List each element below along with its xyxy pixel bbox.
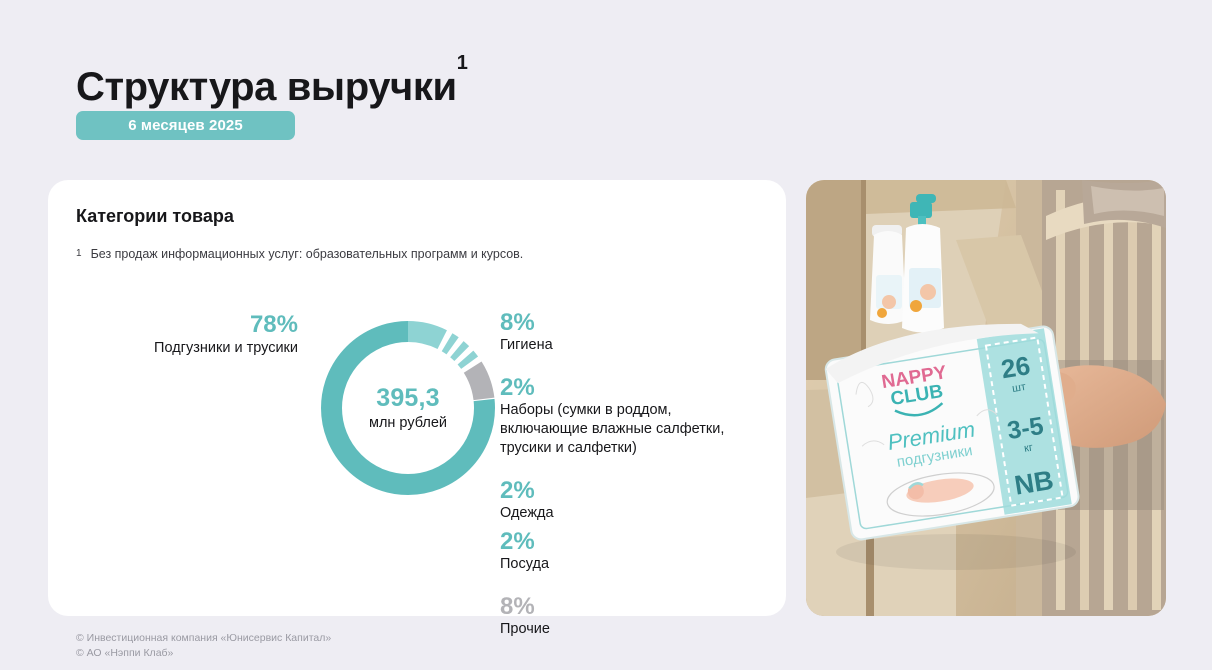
product-photo: 26 шт 3-5 кг NB NAPPY CLUB Premium подгу… [806,180,1166,616]
page-title-text: Структура выручки [76,65,457,109]
legend-item-clothes: 2% Одежда [500,478,762,523]
legend-item-hygiene: 8% Гигиена [500,310,762,355]
legend-percent: 2% [500,529,762,554]
legend-percent: 8% [500,310,762,335]
legend-left: 78% Подгузники и трусики [68,312,298,357]
legend-item-tableware: 2% Посуда [500,529,762,574]
legend-label: Наборы (сумки в роддом, включающие влажн… [500,401,762,458]
pack-count: 26 [999,350,1032,384]
legend-right: 8% Гигиена 2% Наборы (сумки в роддом, вк… [500,310,762,639]
pack-size: NB [1012,465,1055,501]
legend-left-label: Подгузники и трусики [68,339,298,357]
page-title-superscript: 1 [457,52,468,74]
legend-label: Гигиена [500,336,762,355]
footer-line-1: © Инвестиционная компания «Юнисервис Кап… [76,631,331,646]
period-badge: 6 месяцев 2025 [76,111,295,140]
period-badge-label: 6 месяцев 2025 [128,117,243,134]
footnote-text: Без продаж информационных услуг: образов… [91,246,524,263]
footnote: 1 Без продаж информационных услуг: образ… [76,246,523,263]
legend-item-sets: 2% Наборы (сумки в роддом, включающие вл… [500,375,762,458]
pack-weight-unit: кг [1023,442,1034,455]
legend-left-percent: 78% [68,312,298,337]
donut-segment-diapers [332,332,485,485]
categories-card: Категории товара 1 Без продаж информацио… [48,180,786,616]
footnote-marker: 1 [76,246,82,263]
legend-label: Прочие [500,620,762,639]
revenue-donut-chart: 395,3 млн рублей [310,310,506,506]
pack-count-unit: шт [1011,381,1027,395]
footer-line-2: © АО «Нэппи Клаб» [76,646,331,661]
footer: © Инвестиционная компания «Юнисервис Кап… [76,631,331,661]
legend-item-other: 8% Прочие [500,594,762,639]
legend-label: Посуда [500,555,762,574]
pack-weight: 3-5 [1005,412,1045,445]
legend-percent: 2% [500,478,762,503]
legend-percent: 8% [500,594,762,619]
card-heading: Категории товара [76,206,234,227]
legend-percent: 2% [500,375,762,400]
legend-label: Одежда [500,504,762,523]
page-title: Структура выручки1 [76,65,467,109]
